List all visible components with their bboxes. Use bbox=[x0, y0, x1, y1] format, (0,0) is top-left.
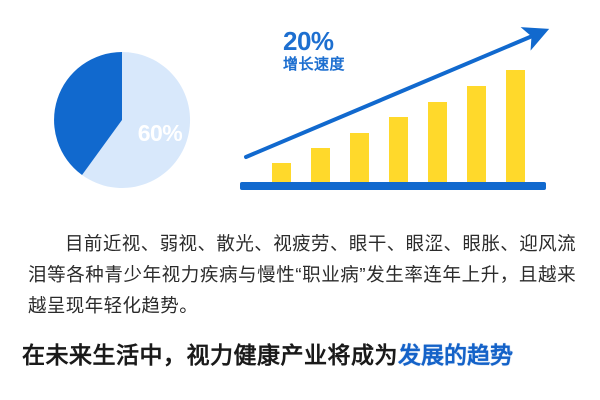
headline-lead: 在未来生活中，视力健康产业将成为 bbox=[22, 342, 398, 368]
chart-baseline bbox=[240, 182, 546, 190]
body-copy: 目前近视、弱视、散光、视疲劳、眼干、眼涩、眼胀、迎风流泪等各种青少年视力疾病与慢… bbox=[28, 228, 576, 321]
growth-callout: 20% 增长速度 bbox=[283, 28, 345, 73]
pie-center-label: 60% bbox=[128, 122, 192, 145]
body-paragraph: 目前近视、弱视、散光、视疲劳、眼干、眼涩、眼胀、迎风流泪等各种青少年视力疾病与慢… bbox=[28, 228, 576, 321]
charts-band: 60% bbox=[0, 0, 600, 215]
bar-5 bbox=[428, 102, 447, 190]
bar-4 bbox=[389, 117, 408, 190]
bar-6 bbox=[467, 86, 486, 190]
headline-accent: 发展的趋势 bbox=[398, 342, 513, 368]
growth-value: 20% bbox=[283, 28, 345, 55]
bar-3 bbox=[350, 133, 369, 190]
bar-7 bbox=[506, 70, 525, 190]
growth-caption: 增长速度 bbox=[283, 57, 345, 73]
headline: 在未来生活中，视力健康产业将成为发展的趋势 bbox=[22, 338, 588, 372]
pie-chart: 60% bbox=[46, 44, 198, 196]
infographic-root: 60% bbox=[0, 0, 600, 400]
